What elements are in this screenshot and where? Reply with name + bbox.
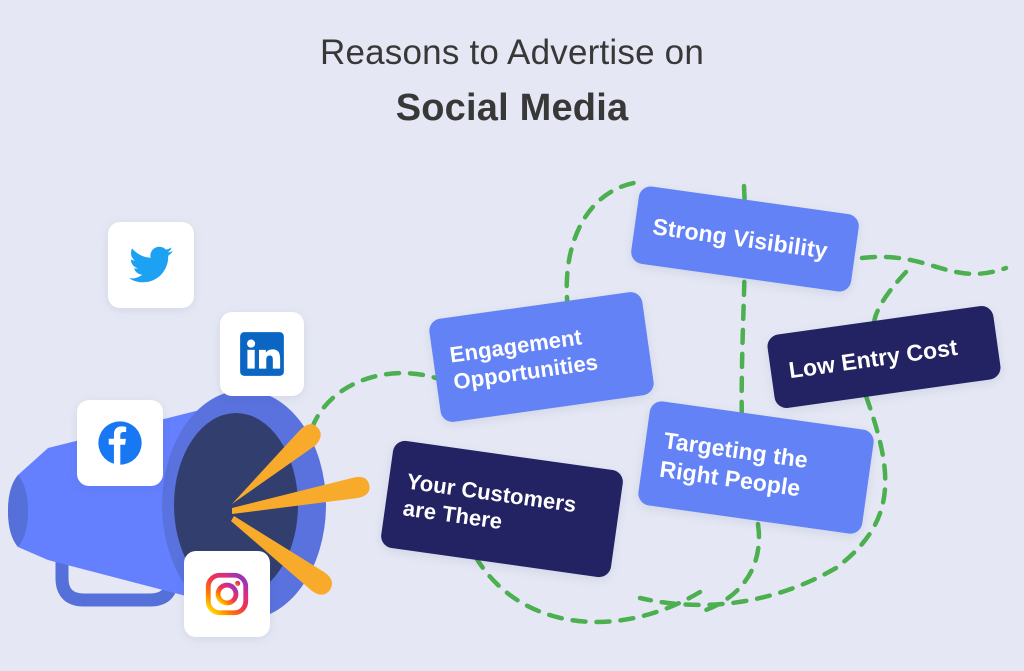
- linkedin-icon: [237, 329, 287, 379]
- reason-card-label: Engagement Opportunities: [448, 323, 600, 396]
- path-bottom-right: [640, 568, 836, 605]
- facebook-icon: [94, 417, 146, 469]
- reason-card-label: Strong Visibility: [651, 212, 830, 264]
- page-title: Reasons to Advertise on Social Media: [0, 30, 1024, 134]
- social-tile-linkedin[interactable]: [220, 312, 304, 396]
- reason-card-label: Low Entry Cost: [787, 333, 959, 384]
- path-to-strong-visibility: [567, 182, 640, 310]
- page-title-line-1: Reasons to Advertise on: [0, 30, 1024, 76]
- reason-card-label: Your Customers are There: [401, 469, 578, 546]
- infographic-canvas: Strong Visibility Engagement Opportuniti…: [0, 0, 1024, 671]
- social-tile-twitter[interactable]: [108, 222, 194, 308]
- instagram-icon: [202, 569, 252, 619]
- page-title-line-2: Social Media: [0, 82, 1024, 134]
- twitter-icon: [126, 240, 176, 290]
- path-targeting-tail: [706, 524, 759, 610]
- social-tile-instagram[interactable]: [184, 551, 270, 637]
- social-tile-facebook[interactable]: [77, 400, 163, 486]
- path-right-upper-loop: [862, 257, 1006, 274]
- reason-card-label: Targeting the Right People: [658, 427, 810, 503]
